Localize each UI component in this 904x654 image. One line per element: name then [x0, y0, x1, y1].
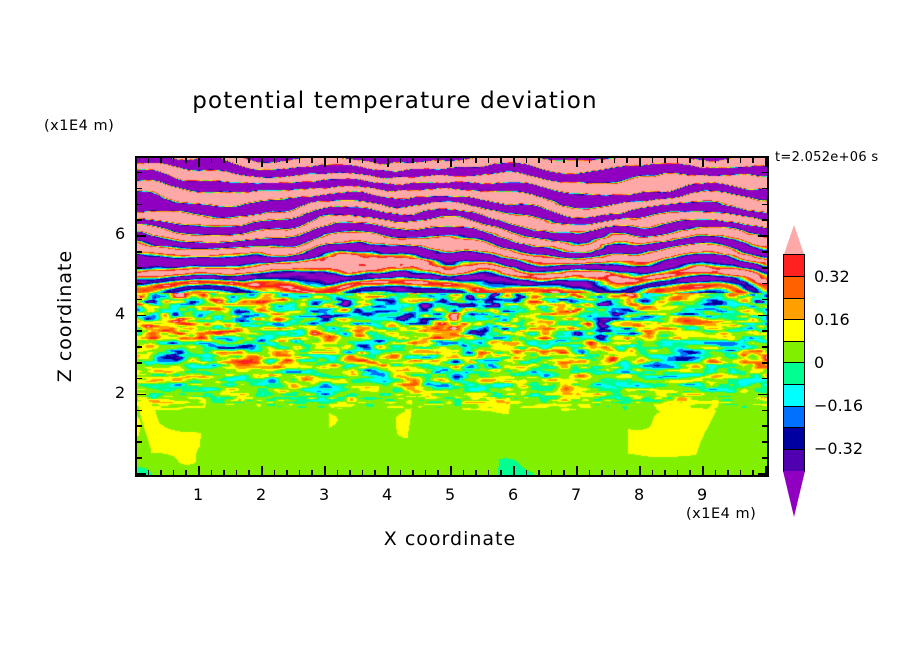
- tick-mark: [137, 346, 142, 348]
- y-tick-label: 6: [115, 224, 125, 243]
- tick-mark: [762, 346, 767, 348]
- tick-mark: [137, 156, 146, 158]
- tick-mark: [488, 158, 490, 163]
- tick-mark: [677, 470, 679, 475]
- tick-mark: [752, 158, 754, 163]
- tick-mark: [475, 158, 477, 163]
- colorbar-band: [783, 341, 805, 364]
- tick-mark: [762, 330, 767, 332]
- tick-mark: [762, 378, 767, 380]
- tick-mark: [762, 283, 767, 285]
- tick-mark: [137, 457, 142, 459]
- tick-mark: [311, 470, 313, 475]
- colorbar-band: [783, 298, 805, 321]
- x-tick-label: 7: [571, 485, 581, 504]
- x-tick-label: 4: [382, 485, 392, 504]
- tick-mark: [677, 158, 679, 163]
- tick-mark: [198, 158, 200, 167]
- tick-mark: [538, 158, 540, 163]
- page-title: potential temperature deviation: [0, 88, 790, 114]
- x-axis-label: X coordinate: [135, 528, 765, 550]
- x-tick-label: 2: [256, 485, 266, 504]
- tick-mark: [601, 470, 603, 475]
- tick-mark: [299, 470, 301, 475]
- tick-mark: [664, 470, 666, 475]
- tick-mark: [387, 466, 389, 475]
- x-tick-label: 6: [508, 485, 518, 504]
- tick-mark: [589, 158, 591, 163]
- tick-mark: [740, 470, 742, 475]
- tick-mark: [274, 158, 276, 163]
- tick-mark: [450, 158, 452, 167]
- tick-mark: [551, 158, 553, 163]
- tick-mark: [740, 158, 742, 163]
- tick-mark: [374, 470, 376, 475]
- tick-mark: [137, 362, 142, 364]
- tick-mark: [437, 158, 439, 163]
- tick-mark: [374, 158, 376, 163]
- tick-mark: [475, 470, 477, 475]
- tick-mark: [652, 470, 654, 475]
- tick-mark: [248, 158, 250, 163]
- tick-mark: [526, 158, 528, 163]
- tick-mark: [639, 466, 641, 475]
- tick-mark: [614, 158, 616, 163]
- tick-mark: [248, 470, 250, 475]
- tick-mark: [211, 470, 213, 475]
- tick-mark: [752, 470, 754, 475]
- temperature-field-heatmap: [137, 158, 767, 475]
- tick-mark: [137, 410, 142, 412]
- tick-mark: [601, 158, 603, 163]
- tick-mark: [762, 441, 767, 443]
- tick-mark: [425, 158, 427, 163]
- tick-mark: [324, 158, 326, 167]
- tick-mark: [412, 470, 414, 475]
- tick-mark: [513, 158, 515, 167]
- y-axis-label: Z coordinate: [54, 221, 76, 411]
- tick-mark: [148, 158, 150, 163]
- tick-mark: [223, 470, 225, 475]
- tick-mark: [137, 172, 142, 174]
- tick-mark: [137, 267, 142, 269]
- tick-mark: [500, 158, 502, 163]
- tick-mark: [513, 466, 515, 475]
- tick-mark: [563, 158, 565, 163]
- y-tick-label: 2: [115, 383, 125, 402]
- tick-mark: [137, 315, 146, 317]
- tick-mark: [425, 470, 427, 475]
- tick-mark: [626, 158, 628, 163]
- colorbar-band: [783, 319, 805, 342]
- tick-mark: [758, 394, 767, 396]
- tick-mark: [614, 470, 616, 475]
- colorbar-band: [783, 384, 805, 407]
- tick-mark: [412, 158, 414, 163]
- tick-mark: [137, 330, 142, 332]
- colorbar-tick-label: −0.32: [814, 439, 863, 458]
- tick-mark: [551, 470, 553, 475]
- tick-mark: [324, 466, 326, 475]
- tick-mark: [337, 470, 339, 475]
- x-tick-label: 3: [319, 485, 329, 504]
- colorbar-band: [783, 427, 805, 450]
- tick-mark: [362, 470, 364, 475]
- colorbar-band: [783, 449, 805, 472]
- tick-mark: [762, 172, 767, 174]
- tick-mark: [626, 470, 628, 475]
- tick-mark: [137, 283, 142, 285]
- tick-mark: [664, 158, 666, 163]
- tick-mark: [715, 470, 717, 475]
- tick-mark: [463, 470, 465, 475]
- tick-mark: [538, 470, 540, 475]
- colorbar-bottom-cap: [783, 471, 805, 517]
- tick-mark: [762, 204, 767, 206]
- tick-mark: [223, 158, 225, 163]
- colorbar-top-cap: [783, 225, 805, 257]
- x-tick-label: 9: [697, 485, 707, 504]
- tick-mark: [500, 470, 502, 475]
- tick-mark: [526, 470, 528, 475]
- tick-mark: [400, 158, 402, 163]
- tick-mark: [173, 158, 175, 163]
- tick-mark: [762, 457, 767, 459]
- colorbar-band: [783, 406, 805, 429]
- tick-mark: [689, 470, 691, 475]
- colorbar: [783, 256, 805, 472]
- tick-mark: [137, 378, 142, 380]
- tick-mark: [185, 470, 187, 475]
- tick-mark: [160, 470, 162, 475]
- tick-mark: [589, 470, 591, 475]
- tick-mark: [463, 158, 465, 163]
- tick-mark: [762, 188, 767, 190]
- tick-mark: [715, 158, 717, 163]
- tick-mark: [137, 394, 146, 396]
- tick-mark: [261, 466, 263, 475]
- tick-mark: [137, 235, 146, 237]
- plot-axes: [135, 156, 769, 477]
- tick-mark: [488, 470, 490, 475]
- y-tick-label: 4: [115, 304, 125, 323]
- tick-mark: [702, 158, 704, 167]
- tick-mark: [274, 470, 276, 475]
- tick-mark: [137, 425, 142, 427]
- tick-mark: [387, 158, 389, 167]
- tick-mark: [286, 158, 288, 163]
- tick-mark: [211, 158, 213, 163]
- tick-mark: [236, 470, 238, 475]
- tick-mark: [762, 219, 767, 221]
- tick-mark: [762, 251, 767, 253]
- tick-mark: [362, 158, 364, 163]
- tick-mark: [261, 158, 263, 167]
- tick-mark: [563, 470, 565, 475]
- colorbar-band: [783, 276, 805, 299]
- tick-mark: [286, 470, 288, 475]
- tick-mark: [173, 470, 175, 475]
- tick-mark: [160, 158, 162, 163]
- colorbar-tick-label: 0.16: [814, 310, 850, 329]
- tick-mark: [299, 158, 301, 163]
- tick-mark: [762, 425, 767, 427]
- tick-mark: [137, 204, 142, 206]
- x-tick-label: 1: [193, 485, 203, 504]
- tick-mark: [337, 158, 339, 163]
- tick-mark: [652, 158, 654, 163]
- tick-mark: [576, 158, 578, 167]
- tick-mark: [137, 473, 146, 475]
- tick-mark: [639, 158, 641, 167]
- tick-mark: [311, 158, 313, 163]
- tick-mark: [437, 470, 439, 475]
- colorbar-tick-label: 0.32: [814, 267, 850, 286]
- colorbar-unit-label: (x1E4 m): [686, 506, 756, 522]
- x-tick-label: 8: [634, 485, 644, 504]
- colorbar-tick-label: −0.16: [814, 396, 863, 415]
- y-axis-unit-label: (x1E4 m): [44, 118, 114, 134]
- tick-mark: [137, 299, 142, 301]
- tick-mark: [758, 315, 767, 317]
- tick-mark: [689, 158, 691, 163]
- tick-mark: [400, 470, 402, 475]
- tick-mark: [198, 466, 200, 475]
- tick-mark: [762, 267, 767, 269]
- tick-mark: [727, 158, 729, 163]
- tick-mark: [727, 470, 729, 475]
- tick-mark: [148, 470, 150, 475]
- tick-mark: [758, 156, 767, 158]
- x-tick-label: 5: [445, 485, 455, 504]
- tick-mark: [137, 219, 142, 221]
- tick-mark: [762, 299, 767, 301]
- time-annotation: t=2.052e+06 s: [775, 150, 878, 165]
- tick-mark: [137, 251, 142, 253]
- tick-mark: [765, 158, 767, 167]
- tick-mark: [762, 410, 767, 412]
- tick-mark: [185, 158, 187, 163]
- contour-plot-figure: potential temperature deviation (x1E4 m)…: [0, 0, 904, 654]
- tick-mark: [762, 362, 767, 364]
- tick-mark: [576, 466, 578, 475]
- tick-mark: [349, 158, 351, 163]
- tick-mark: [137, 441, 142, 443]
- tick-mark: [236, 158, 238, 163]
- tick-mark: [135, 158, 137, 167]
- tick-mark: [137, 188, 142, 190]
- colorbar-band: [783, 254, 805, 277]
- colorbar-band: [783, 362, 805, 385]
- tick-mark: [758, 473, 767, 475]
- tick-mark: [702, 466, 704, 475]
- tick-mark: [758, 235, 767, 237]
- tick-mark: [450, 466, 452, 475]
- tick-mark: [349, 470, 351, 475]
- colorbar-tick-label: 0: [814, 353, 824, 372]
